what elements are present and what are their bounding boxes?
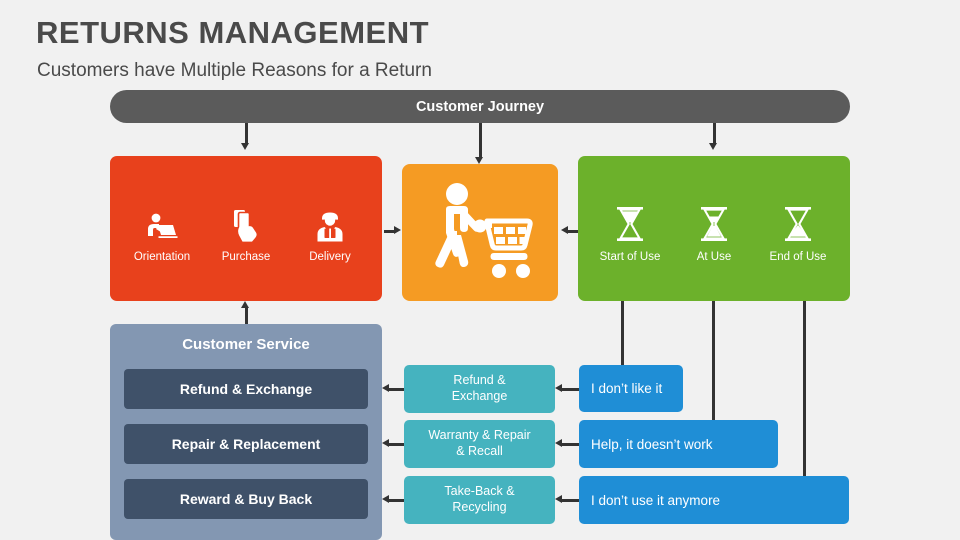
customer-service-title: Customer Service xyxy=(110,336,382,353)
arrowhead-reason-3-to-return-3 xyxy=(555,495,562,503)
stage-orientation[interactable]: Orientation xyxy=(120,200,204,263)
return-type-2-line1: Warranty & Repair xyxy=(428,428,530,442)
connector-start-of-use-to-reason-1 xyxy=(621,301,624,365)
customer-reason-no-longer-used[interactable]: I don’t use it anymore xyxy=(579,476,849,524)
return-type-2-label: Warranty & Repair & Recall xyxy=(428,428,530,459)
person-laptop-icon xyxy=(145,200,179,242)
service-journey-stages: Start of Use At Use xyxy=(578,200,850,263)
return-type-take-back-recycling[interactable]: Take-Back & Recycling xyxy=(404,476,555,524)
stage-orientation-label: Orientation xyxy=(134,251,190,263)
arrowhead-service-to-center xyxy=(561,226,568,234)
return-type-refund-exchange[interactable]: Refund & Exchange xyxy=(404,365,555,413)
hourglass-middle-icon xyxy=(697,200,731,242)
stage-delivery-label: Delivery xyxy=(309,251,351,263)
return-type-3-line2: Recycling xyxy=(452,500,506,514)
customer-journey-bar: Customer Journey xyxy=(110,90,850,123)
page-title: RETURNS MANAGEMENT xyxy=(36,15,429,51)
customer-service-panel: Customer Service Refund & Exchange Repai… xyxy=(110,324,382,540)
return-type-3-label: Take-Back & Recycling xyxy=(444,484,514,515)
cs-item-reward-buy-back[interactable]: Reward & Buy Back xyxy=(124,479,368,519)
return-type-2-line2: & Recall xyxy=(456,444,503,458)
connector-return-2-to-cs xyxy=(387,443,404,446)
stage-purchase-label: Purchase xyxy=(222,251,271,263)
customer-reason-not-working[interactable]: Help, it doesn’t work xyxy=(579,420,778,468)
arrowhead-return-1-to-cs xyxy=(382,384,389,392)
hourglass-bottom-icon xyxy=(781,200,815,242)
connector-at-use-to-reason-2 xyxy=(712,301,715,420)
connector-reason-1-to-return-1 xyxy=(560,388,579,391)
connector-reason-2-to-return-2 xyxy=(560,443,579,446)
arrowhead-bar-to-center xyxy=(475,157,483,164)
arrowhead-reason-2-to-return-2 xyxy=(555,439,562,447)
arrowhead-cs-to-buying xyxy=(241,301,249,308)
connector-cs-to-buying xyxy=(245,308,248,324)
stage-start-of-use[interactable]: Start of Use xyxy=(588,200,672,263)
connector-bar-to-service xyxy=(713,123,716,145)
cs-item-refund-exchange[interactable]: Refund & Exchange xyxy=(124,369,368,409)
arrowhead-bar-to-service xyxy=(709,143,717,150)
arrowhead-buying-to-center xyxy=(394,226,401,234)
arrowhead-return-2-to-cs xyxy=(382,439,389,447)
return-type-1-line2: Exchange xyxy=(452,389,508,403)
return-type-3-line1: Take-Back & xyxy=(444,484,514,498)
cs-item-repair-replacement[interactable]: Repair & Replacement xyxy=(124,424,368,464)
stage-at-use-label: At Use xyxy=(697,251,732,263)
stage-end-of-use-label: End of Use xyxy=(770,251,827,263)
hand-card-icon xyxy=(231,200,261,242)
customer-journey-label: Customer Journey xyxy=(416,99,544,115)
arrowhead-bar-to-buying xyxy=(241,143,249,150)
customer-reason-dislike[interactable]: I don’t like it xyxy=(579,365,683,412)
stage-purchase[interactable]: Purchase xyxy=(204,200,288,263)
shopper-cart-icon xyxy=(402,164,558,301)
stage-at-use[interactable]: At Use xyxy=(672,200,756,263)
return-type-warranty-repair-recall[interactable]: Warranty & Repair & Recall xyxy=(404,420,555,468)
page-subtitle: Customers have Multiple Reasons for a Re… xyxy=(37,60,432,82)
arrowhead-return-3-to-cs xyxy=(382,495,389,503)
stage-delivery[interactable]: Delivery xyxy=(288,200,372,263)
hourglass-top-icon xyxy=(613,200,647,242)
connector-return-3-to-cs xyxy=(387,499,404,502)
connector-return-1-to-cs xyxy=(387,388,404,391)
connector-bar-to-buying xyxy=(245,123,248,145)
slide-canvas: RETURNS MANAGEMENT Customers have Multip… xyxy=(0,0,960,540)
buying-journey-panel: Orientation Purchase xyxy=(110,156,382,301)
delivery-person-icon xyxy=(315,200,345,242)
return-type-1-label: Refund & Exchange xyxy=(452,373,508,404)
service-journey-panel: Start of Use At Use xyxy=(578,156,850,301)
connector-bar-to-center xyxy=(479,123,482,159)
stage-start-of-use-label: Start of Use xyxy=(600,251,661,263)
arrowhead-reason-1-to-return-1 xyxy=(555,384,562,392)
connector-reason-3-to-return-3 xyxy=(560,499,579,502)
connector-end-of-use-to-reason-3 xyxy=(803,301,806,476)
stage-end-of-use[interactable]: End of Use xyxy=(756,200,840,263)
return-type-1-line1: Refund & xyxy=(453,373,505,387)
center-shopper-panel xyxy=(402,164,558,301)
buying-journey-stages: Orientation Purchase xyxy=(110,200,382,263)
